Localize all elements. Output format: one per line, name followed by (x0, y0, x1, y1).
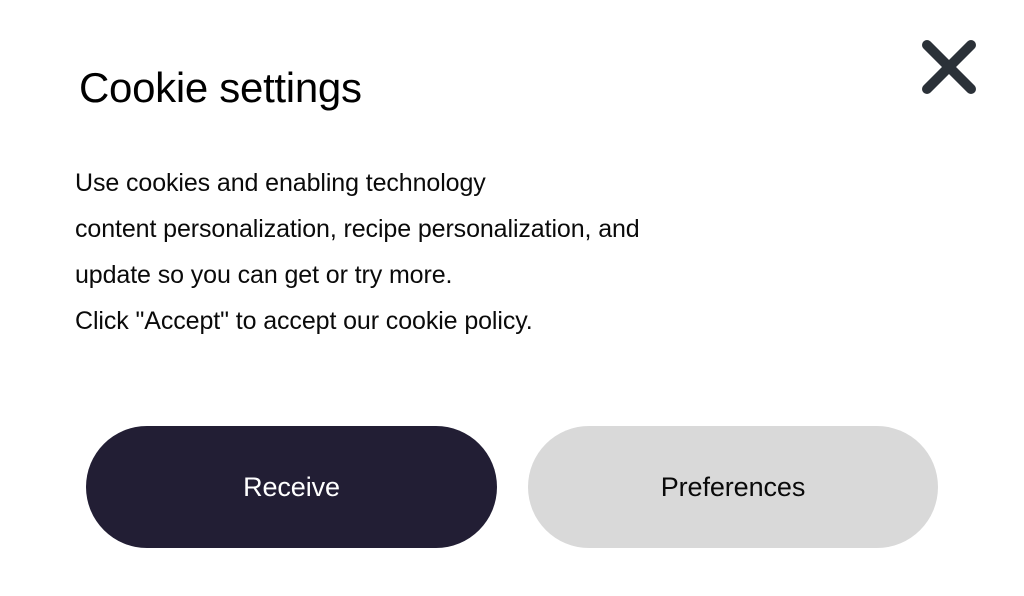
dialog-title: Cookie settings (79, 64, 362, 112)
close-button[interactable] (914, 32, 984, 102)
cookie-settings-dialog: Cookie settings Use cookies and enabling… (0, 0, 1024, 596)
close-icon (920, 38, 978, 96)
preferences-button[interactable]: Preferences (528, 426, 938, 548)
dialog-description: Use cookies and enabling technology cont… (75, 160, 935, 344)
dialog-actions: Receive Preferences (86, 426, 938, 548)
accept-button[interactable]: Receive (86, 426, 497, 548)
description-line: update so you can get or try more. (75, 252, 935, 298)
description-line: Click "Accept" to accept our cookie poli… (75, 298, 935, 344)
description-line: Use cookies and enabling technology (75, 160, 935, 206)
description-line: content personalization, recipe personal… (75, 206, 935, 252)
